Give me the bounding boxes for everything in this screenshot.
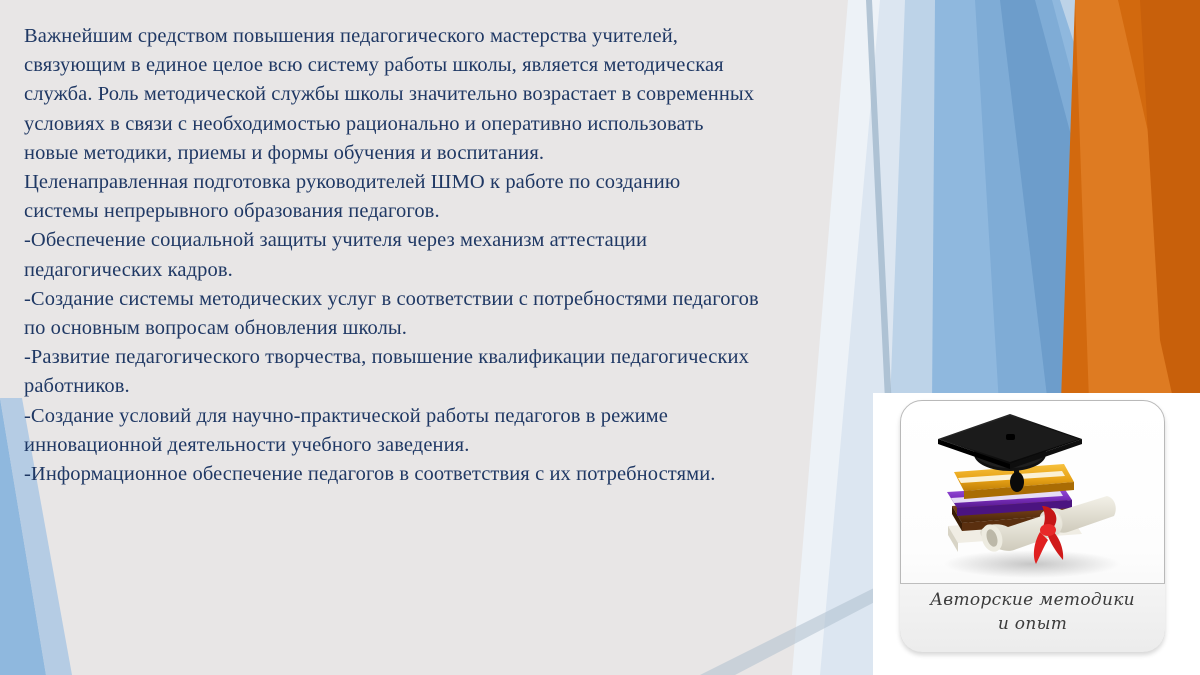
illustration-card: Авторские методики и опыт (900, 400, 1165, 652)
body-line: -Создание системы методических услуг в с… (24, 285, 884, 314)
body-line: работников. (24, 372, 884, 401)
body-line: -Создание условий для научно-практическо… (24, 402, 884, 431)
body-line: системы непрерывного образования педагог… (24, 197, 884, 226)
body-line: служба. Роль методической службы школы з… (24, 80, 884, 109)
body-line: педагогических кадров. (24, 256, 884, 285)
card-caption-line-1: Авторские методики (900, 588, 1165, 612)
body-line: связующим в единое целое всю систему раб… (24, 51, 884, 80)
body-line: -Обеспечение социальной защиты учителя ч… (24, 226, 884, 255)
presentation-slide: Важнейшим средством повышения педагогиче… (0, 0, 1200, 675)
body-line: по основным вопросам обновления школы. (24, 314, 884, 343)
card-caption: Авторские методики и опыт (900, 588, 1165, 636)
body-line: условиях в связи с необходимостью рацион… (24, 110, 884, 139)
graduation-cap-books-diploma-icon (922, 406, 1144, 581)
slide-body-text: Важнейшим средством повышения педагогиче… (24, 22, 884, 489)
body-line: инновационной деятельности учебного заве… (24, 431, 884, 460)
body-line: новые методики, приемы и формы обучения … (24, 139, 884, 168)
body-line: -Информационное обеспечение педагогов в … (24, 460, 884, 489)
body-line: -Развитие педагогического творчества, по… (24, 343, 884, 372)
card-caption-line-2: и опыт (900, 612, 1165, 636)
body-line: Целенаправленная подготовка руководителе… (24, 168, 884, 197)
body-line: Важнейшим средством повышения педагогиче… (24, 22, 884, 51)
illustration-panel: Авторские методики и опыт (873, 393, 1200, 675)
